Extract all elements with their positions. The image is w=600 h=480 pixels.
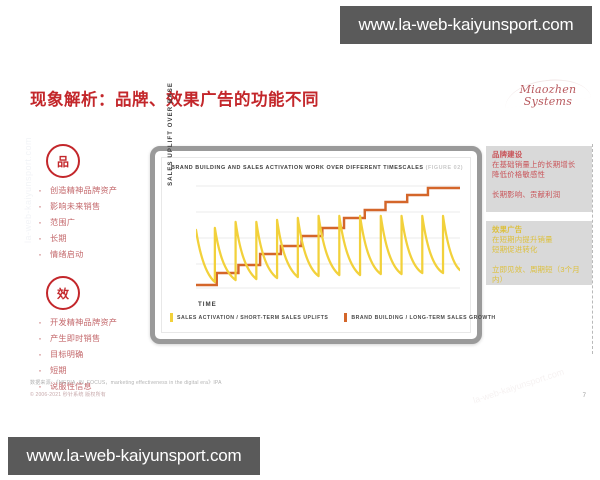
brand-bullet-list: 创造精神品牌资产 影响未来销售 范围广 长期 情绪启动 bbox=[28, 187, 150, 260]
list-item: 范围广 bbox=[28, 219, 150, 228]
chart-container: BRAND BUILDING AND SALES ACTIVATION WORK… bbox=[161, 157, 471, 333]
tablet-frame: BRAND BUILDING AND SALES ACTIVATION WORK… bbox=[150, 146, 482, 344]
chart-svg bbox=[196, 180, 460, 298]
legend-item-sales-activation: SALES ACTIVATION / SHORT-TERM SALES UPLI… bbox=[170, 313, 328, 322]
legend-label: SALES ACTIVATION / SHORT-TERM SALES UPLI… bbox=[177, 315, 328, 321]
logo: Miaozhen Systems bbox=[508, 84, 588, 124]
legend-swatch-sales-activation bbox=[170, 313, 173, 322]
panel-body: 在短期内提升销量 短期促进转化 bbox=[492, 235, 586, 256]
chart-title-text: BRAND BUILDING AND SALES ACTIVATION WORK… bbox=[171, 165, 424, 171]
chart-plot-area bbox=[196, 180, 460, 298]
chart-legend: SALES ACTIVATION / SHORT-TERM SALES UPLI… bbox=[170, 313, 464, 322]
panel-note: 立即见效、周期短（3个月内） bbox=[492, 265, 586, 286]
brand-group: 品 创造精神品牌资产 影响未来销售 范围广 长期 情绪启动 bbox=[28, 144, 150, 260]
list-item: 产生即时销售 bbox=[28, 335, 150, 344]
list-item: 长期 bbox=[28, 235, 150, 244]
list-item: 情绪启动 bbox=[28, 251, 150, 260]
slide-canvas: la-web-kaiyunsport.com 现象解析：品牌、效果广告的功能不同… bbox=[0, 58, 600, 413]
chart-title: BRAND BUILDING AND SALES ACTIVATION WORK… bbox=[171, 165, 464, 171]
copyright-text: © 2006-2021 秒针系统 版权所有 bbox=[30, 391, 106, 398]
watermark-bar-top: www.la-web-kaiyunsport.com bbox=[340, 6, 592, 44]
chart-x-axis-label: TIME bbox=[198, 301, 217, 308]
legend-label: BRAND BUILDING / LONG-TERM SALES GROWTH bbox=[351, 315, 495, 321]
badge-brand: 品 bbox=[46, 144, 80, 178]
page-number: 7 bbox=[583, 393, 586, 399]
legend-item-brand-building: BRAND BUILDING / LONG-TERM SALES GROWTH bbox=[344, 313, 495, 322]
badge-performance: 效 bbox=[46, 276, 80, 310]
list-item: 开发精神品牌资产 bbox=[28, 319, 150, 328]
panel-brand-building: 品牌建设 在基础销量上的长期增长 降低价格敏感性 长期影响、贡献利润 bbox=[486, 146, 592, 212]
list-item: 创造精神品牌资产 bbox=[28, 187, 150, 196]
list-item: 短期 bbox=[28, 367, 150, 376]
chart-figure-label: (FIGURE 02) bbox=[426, 165, 464, 171]
diagonal-watermark: la-web-kaiyunsport.com bbox=[472, 367, 565, 406]
panel-note: 长期影响、贡献利润 bbox=[492, 190, 586, 200]
panel-performance: 效果广告 在短期内提升销量 短期促进转化 立即见效、周期短（3个月内） bbox=[486, 221, 592, 285]
legend-swatch-brand-building bbox=[344, 313, 347, 322]
list-item: 目标明确 bbox=[28, 351, 150, 360]
source-footnote: 数据来源：《MEDIA_IN_FOCUS，marketing effective… bbox=[30, 379, 222, 386]
performance-group: 效 开发精神品牌资产 产生即时销售 目标明确 短期 说服性信息 bbox=[28, 276, 150, 392]
list-item: 影响未来销售 bbox=[28, 203, 150, 212]
panel-body: 在基础销量上的长期增长 降低价格敏感性 bbox=[492, 160, 586, 181]
dashed-divider bbox=[592, 144, 593, 354]
left-column: 品 创造精神品牌资产 影响未来销售 范围广 长期 情绪启动 效 开发精神品牌资产… bbox=[28, 144, 150, 400]
panel-heading: 品牌建设 bbox=[492, 150, 586, 160]
series-sales-activation bbox=[196, 216, 460, 282]
panel-heading: 效果广告 bbox=[492, 225, 586, 235]
chart-y-axis-label: SALES UPLIFT OVER BASE bbox=[168, 82, 174, 188]
page-title: 现象解析：品牌、效果广告的功能不同 bbox=[30, 86, 319, 110]
watermark-bar-bottom: www.la-web-kaiyunsport.com bbox=[8, 437, 260, 475]
